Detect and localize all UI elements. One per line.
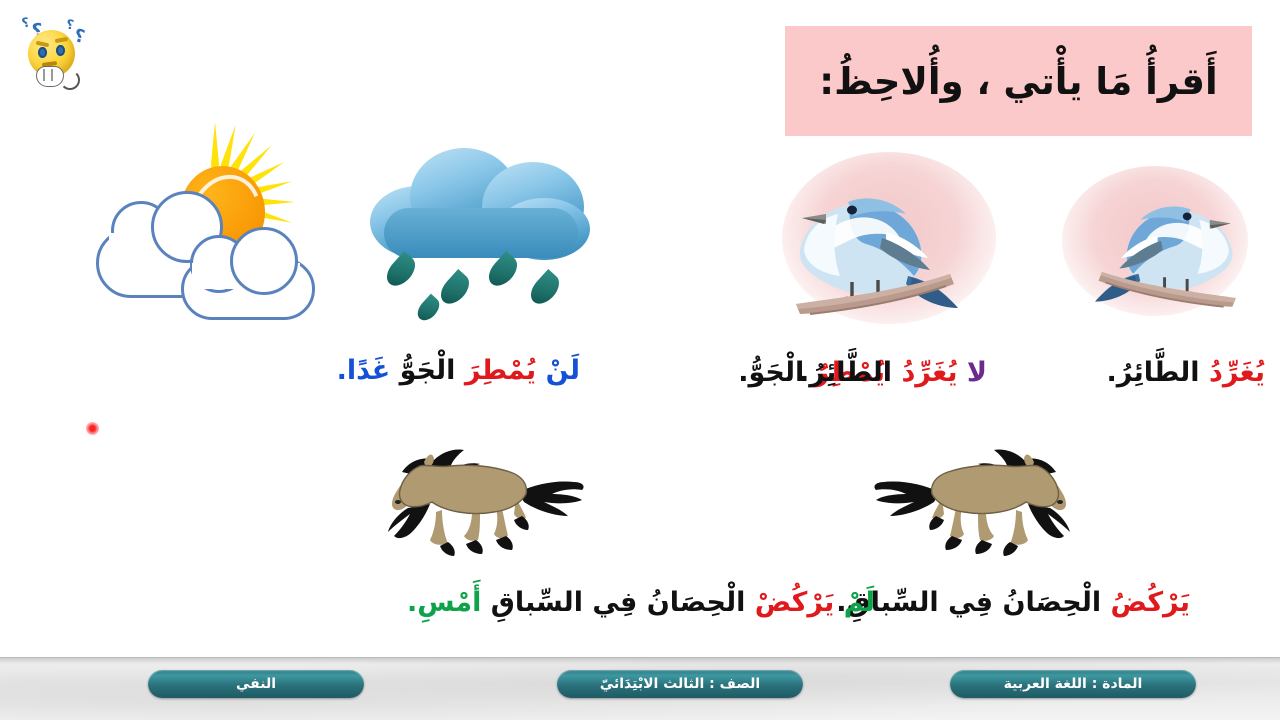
verb-word: يَرْكُضْ <box>755 587 834 618</box>
horse-illustration <box>376 436 612 564</box>
horse-icon <box>376 436 612 564</box>
subject-word: الطَّائِرُ. <box>1107 357 1200 388</box>
bird-illustration <box>1062 166 1248 316</box>
question-mark-icon: ؟ <box>65 17 75 33</box>
slide-canvas: ؟ ؟ ؟ ؟ أَقرأُ مَا يأْتي ، وأُلاحِظُ: <box>0 0 1280 720</box>
bird-illustration <box>782 152 996 324</box>
bird-icon <box>1062 166 1248 315</box>
subject-badge: المادة : اللغة العربية <box>950 670 1196 698</box>
raindrop-icon <box>435 269 474 309</box>
subject-phrase: الْحِصَانُ فِي السِّباقِ <box>491 587 746 618</box>
subject-phrase: الْحِصَانُ فِي السِّباقِ. <box>836 587 1101 618</box>
sentence-rain-negative: لَنْ يُمْطِرَ الْجَوُّ غَدًا. <box>337 355 580 386</box>
verb-word: يُغَرِّدُ <box>1209 357 1265 388</box>
sentence-horse-affirmative: يَرْكُضُ الْحِصَانُ فِي السِّباقِ. <box>836 587 1190 618</box>
negation-particle: لَنْ <box>546 355 580 386</box>
negation-particle: لا <box>967 357 987 388</box>
sun-behind-clouds-icon <box>88 128 313 323</box>
verb-word: يُغَرِّدُ <box>901 357 957 388</box>
laser-pointer-dot <box>86 422 99 435</box>
sentence-horse-negative: لَمْ يَرْكُضْ الْحِصَانُ فِي السِّباقِ أ… <box>407 587 875 618</box>
rain-cloud-icon <box>362 136 602 331</box>
subject-word: الْجَوُّ. <box>738 357 804 388</box>
emoji-eye <box>38 47 47 58</box>
horse-illustration <box>846 436 1082 564</box>
verb-word: يَرْكُضُ <box>1111 587 1190 618</box>
topic-badge: النفي <box>148 670 364 698</box>
cloud-shape <box>181 258 315 320</box>
emoji-hand <box>36 66 64 87</box>
time-adverb: أَمْسِ. <box>407 587 481 618</box>
instruction-text: أَقرأُ مَا يأْتي ، وأُلاحِظُ: <box>819 60 1217 103</box>
subject-word: الْجَوُّ <box>400 355 456 386</box>
cloud-body <box>370 146 592 254</box>
grade-badge: الصف : الثالث الابْتِدَائيّ <box>557 670 803 698</box>
negation-particle: لَمْ <box>844 587 875 618</box>
subject-word: الطَّائِرُ. <box>799 357 892 388</box>
sentence-bird-negative: لا يُغَرِّدُ الطَّائِرُ. <box>799 357 987 388</box>
time-adverb: غَدًا. <box>337 355 391 386</box>
raindrop-icon <box>413 294 443 325</box>
raindrop-icon <box>525 269 564 309</box>
thinking-face-icon: ؟ ؟ ؟ ؟ <box>10 14 92 88</box>
verb-word: يُمْطِرَ <box>465 355 536 386</box>
sentence-bird-affirmative: يُغَرِّدُ الطَّائِرُ. <box>1107 357 1265 388</box>
question-mark-icon: ؟ <box>21 15 32 31</box>
question-mark-icon: ؟ <box>72 25 87 48</box>
emoji-eye <box>56 45 65 56</box>
instruction-banner: أَقرأُ مَا يأْتي ، وأُلاحِظُ: <box>785 26 1252 136</box>
horse-icon <box>846 436 1082 564</box>
bird-icon <box>782 152 996 324</box>
footer-bar: المادة : اللغة العربية الصف : الثالث الا… <box>0 657 1280 720</box>
